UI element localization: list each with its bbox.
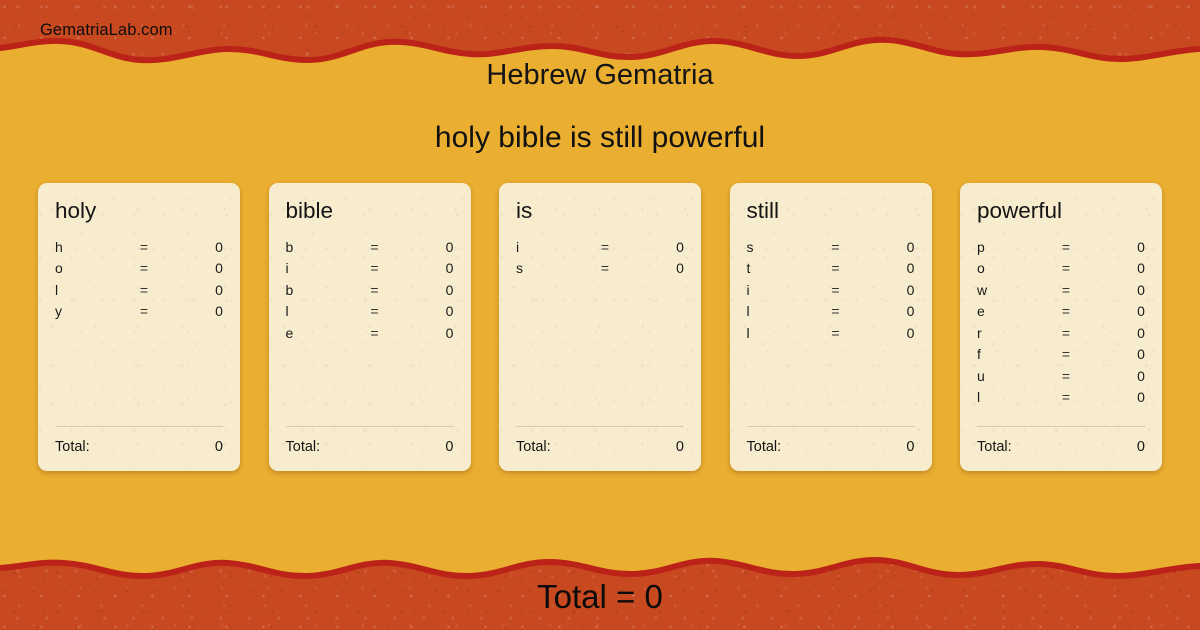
equals-sign: = (1048, 389, 1085, 405)
letter-value: 0 (624, 239, 684, 255)
letter-value-row: t=0 (747, 260, 915, 282)
letter-char: l (747, 303, 818, 319)
equals-sign: = (126, 239, 163, 255)
letter-char: o (977, 260, 1048, 276)
letter-value-row: w=0 (977, 282, 1145, 304)
equals-sign: = (1048, 346, 1085, 362)
letter-char: w (977, 282, 1048, 298)
site-logo[interactable]: GematriaLab.com (40, 21, 173, 40)
word-card: stills=0t=0i=0l=0l=0Total:0 (730, 183, 932, 471)
letter-value-row: l=0 (747, 325, 915, 347)
letter-value: 0 (854, 282, 914, 298)
word-card-title: is (516, 200, 684, 223)
letter-value-row: l=0 (286, 303, 454, 325)
letter-value-row: p=0 (977, 239, 1145, 261)
letter-value: 0 (393, 260, 453, 276)
letter-value: 0 (1085, 260, 1145, 276)
letter-char: u (977, 368, 1048, 384)
letter-value: 0 (624, 260, 684, 276)
letter-value-row: l=0 (55, 282, 223, 304)
letter-value: 0 (163, 260, 223, 276)
word-total-value: 0 (676, 439, 684, 455)
letter-char: e (977, 303, 1048, 319)
word-card: holyh=0o=0l=0y=0Total:0 (38, 183, 240, 471)
equals-sign: = (817, 303, 854, 319)
equals-sign: = (126, 282, 163, 298)
letter-char: o (55, 260, 126, 276)
word-total-row: Total:0 (977, 439, 1145, 455)
letter-value-list: s=0t=0i=0l=0l=0 (747, 239, 915, 427)
word-total-value: 0 (445, 439, 453, 455)
letter-char: i (516, 239, 587, 255)
equals-sign: = (1048, 325, 1085, 341)
letter-value: 0 (854, 239, 914, 255)
page-title: Hebrew Gematria (0, 59, 1200, 92)
letter-value-row: b=0 (286, 239, 454, 261)
letter-char: l (977, 389, 1048, 405)
card-divider (286, 426, 454, 427)
letter-value-row: i=0 (747, 282, 915, 304)
word-total-label: Total: (55, 439, 90, 455)
letter-value-row: s=0 (516, 260, 684, 282)
letter-value: 0 (1085, 389, 1145, 405)
letter-value-row: f=0 (977, 346, 1145, 368)
word-total-value: 0 (1137, 439, 1145, 455)
word-total-row: Total:0 (747, 439, 915, 455)
letter-char: l (286, 303, 357, 319)
letter-value-row: o=0 (977, 260, 1145, 282)
equals-sign: = (817, 282, 854, 298)
letter-char: s (747, 239, 818, 255)
equals-sign: = (356, 325, 393, 341)
grand-total: Total = 0 (0, 578, 1200, 616)
letter-value-list: b=0i=0b=0l=0e=0 (286, 239, 454, 427)
letter-char: l (55, 282, 126, 298)
equals-sign: = (817, 325, 854, 341)
letter-char: h (55, 239, 126, 255)
card-divider (516, 426, 684, 427)
letter-value: 0 (1085, 346, 1145, 362)
equals-sign: = (356, 239, 393, 255)
equals-sign: = (587, 239, 624, 255)
letter-char: l (747, 325, 818, 341)
word-total-label: Total: (747, 439, 782, 455)
letter-value-row: e=0 (286, 325, 454, 347)
word-total-label: Total: (516, 439, 551, 455)
letter-value-row: e=0 (977, 303, 1145, 325)
equals-sign: = (587, 260, 624, 276)
equals-sign: = (817, 260, 854, 276)
letter-char: i (747, 282, 818, 298)
word-total-label: Total: (977, 439, 1012, 455)
word-card-title: holy (55, 200, 223, 223)
letter-value-list: p=0o=0w=0e=0r=0f=0u=0l=0 (977, 239, 1145, 427)
equals-sign: = (1048, 260, 1085, 276)
letter-char: y (55, 303, 126, 319)
letter-value-row: o=0 (55, 260, 223, 282)
equals-sign: = (1048, 303, 1085, 319)
equals-sign: = (356, 282, 393, 298)
letter-value: 0 (854, 325, 914, 341)
equals-sign: = (126, 303, 163, 319)
word-total-value: 0 (906, 439, 914, 455)
letter-value-row: l=0 (977, 389, 1145, 411)
word-card-footer: Total:0 (747, 426, 915, 471)
letter-value-row: y=0 (55, 303, 223, 325)
equals-sign: = (126, 260, 163, 276)
letter-value: 0 (854, 303, 914, 319)
card-divider (747, 426, 915, 427)
letter-value-row: i=0 (286, 260, 454, 282)
equals-sign: = (356, 303, 393, 319)
word-total-label: Total: (286, 439, 321, 455)
letter-value-row: b=0 (286, 282, 454, 304)
equals-sign: = (1048, 282, 1085, 298)
letter-char: r (977, 325, 1048, 341)
word-card: bibleb=0i=0b=0l=0e=0Total:0 (269, 183, 471, 471)
letter-char: t (747, 260, 818, 276)
letter-value: 0 (1085, 282, 1145, 298)
letter-value: 0 (163, 303, 223, 319)
word-card-title: bible (286, 200, 454, 223)
letter-char: p (977, 239, 1048, 255)
letter-value: 0 (393, 303, 453, 319)
card-divider (55, 426, 223, 427)
letter-value: 0 (163, 239, 223, 255)
word-cards-row: holyh=0o=0l=0y=0Total:0bibleb=0i=0b=0l=0… (38, 183, 1162, 471)
word-card-footer: Total:0 (516, 426, 684, 471)
letter-char: e (286, 325, 357, 341)
letter-value-row: l=0 (747, 303, 915, 325)
letter-value: 0 (1085, 368, 1145, 384)
letter-value: 0 (1085, 239, 1145, 255)
word-card: powerfulp=0o=0w=0e=0r=0f=0u=0l=0Total:0 (960, 183, 1162, 471)
letter-char: f (977, 346, 1048, 362)
letter-char: i (286, 260, 357, 276)
letter-char: s (516, 260, 587, 276)
letter-value: 0 (393, 239, 453, 255)
word-card-footer: Total:0 (55, 426, 223, 471)
word-total-value: 0 (215, 439, 223, 455)
equals-sign: = (817, 239, 854, 255)
word-card-footer: Total:0 (977, 426, 1145, 471)
letter-value-row: s=0 (747, 239, 915, 261)
letter-char: b (286, 282, 357, 298)
letter-value: 0 (393, 325, 453, 341)
equals-sign: = (356, 260, 393, 276)
letter-value: 0 (393, 282, 453, 298)
letter-value-row: u=0 (977, 368, 1145, 390)
letter-value: 0 (163, 282, 223, 298)
word-card-footer: Total:0 (286, 426, 454, 471)
letter-value: 0 (854, 260, 914, 276)
letter-value-list: h=0o=0l=0y=0 (55, 239, 223, 427)
letter-value-list: i=0s=0 (516, 239, 684, 427)
word-card: isi=0s=0Total:0 (499, 183, 701, 471)
word-card-title: powerful (977, 200, 1145, 223)
equals-sign: = (1048, 239, 1085, 255)
letter-char: b (286, 239, 357, 255)
letter-value: 0 (1085, 303, 1145, 319)
word-total-row: Total:0 (516, 439, 684, 455)
word-card-title: still (747, 200, 915, 223)
card-divider (977, 426, 1145, 427)
phrase-text: holy bible is still powerful (0, 121, 1200, 155)
letter-value-row: r=0 (977, 325, 1145, 347)
letter-value-row: h=0 (55, 239, 223, 261)
letter-value-row: i=0 (516, 239, 684, 261)
word-total-row: Total:0 (55, 439, 223, 455)
letter-value: 0 (1085, 325, 1145, 341)
word-total-row: Total:0 (286, 439, 454, 455)
equals-sign: = (1048, 368, 1085, 384)
